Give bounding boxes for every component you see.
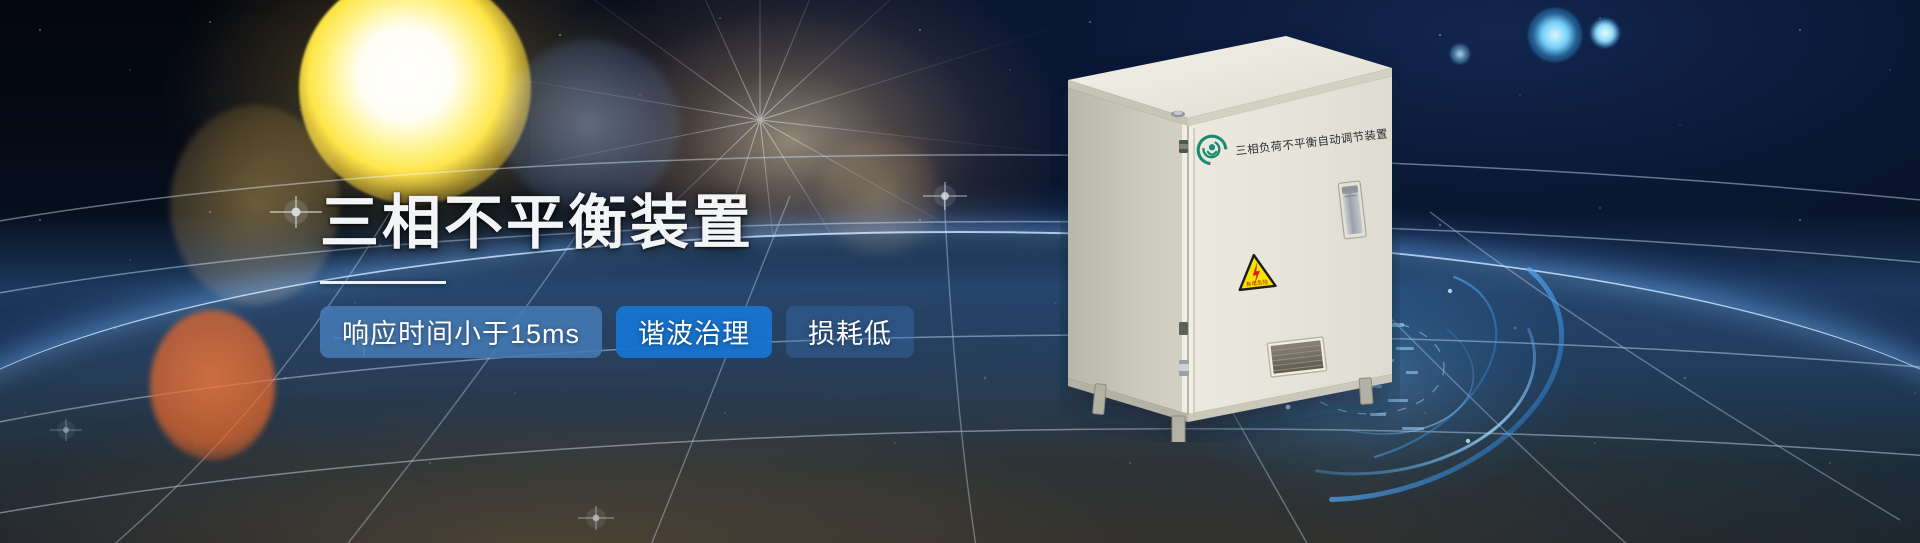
page-title: 三相不平衡装置 [320, 192, 960, 256]
feature-tag-low-loss[interactable]: 损耗低 [786, 306, 914, 358]
feature-tag-list: 响应时间小于15ms 谐波治理 损耗低 [320, 306, 960, 358]
title-divider [320, 281, 446, 284]
vent-grille [1267, 337, 1327, 377]
feature-tag-response-time[interactable]: 响应时间小于15ms [320, 306, 602, 358]
feature-tag-harmonic-treatment[interactable]: 谐波治理 [616, 306, 772, 358]
product-cabinet: 三相负荷不平衡自动调节装置 有电危险 [1060, 22, 1400, 442]
hero-banner: 三相负荷不平衡自动调节装置 有电危险 [0, 0, 1920, 543]
banner-copy: 三相不平衡装置 响应时间小于15ms 谐波治理 损耗低 [320, 192, 960, 358]
earth-surface [0, 233, 1920, 543]
